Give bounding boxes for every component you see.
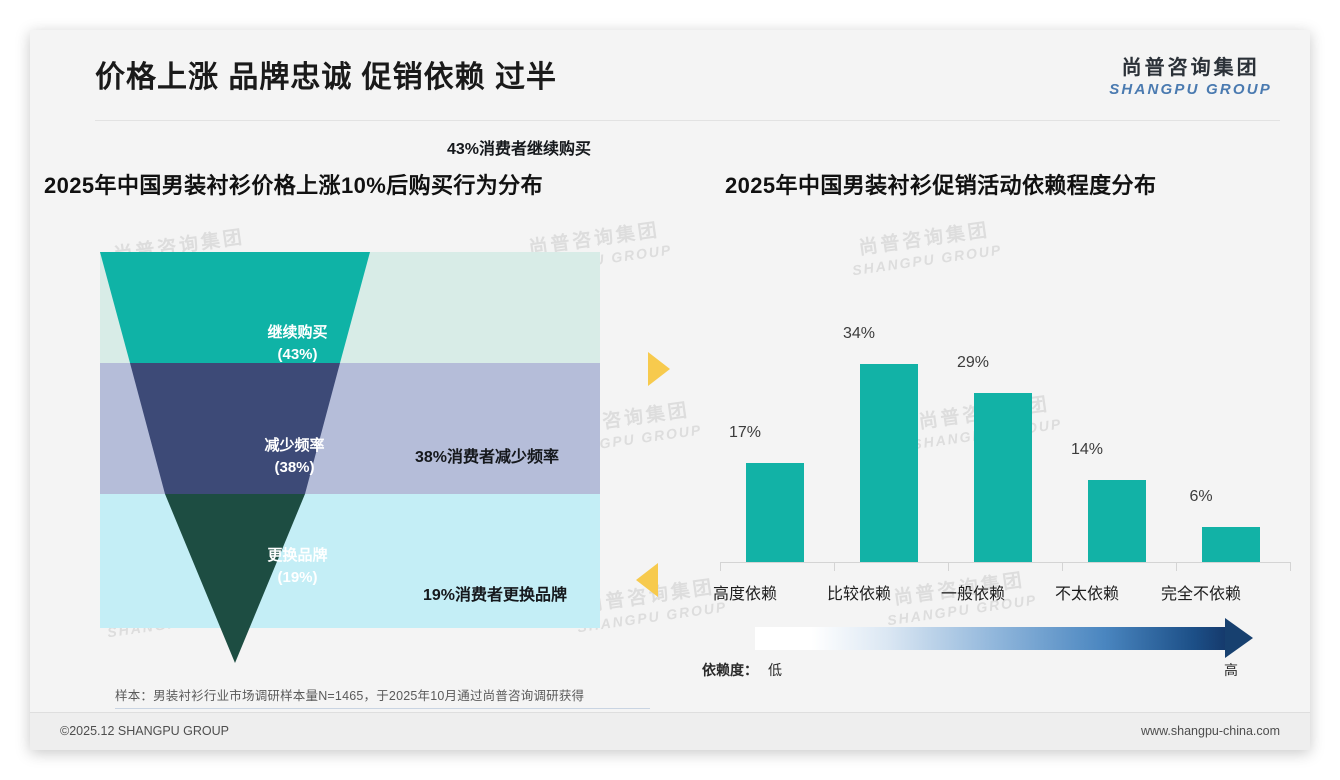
gradient-arrow-shaft bbox=[755, 627, 1227, 650]
left-chart-title: 2025年中国男装衬衫价格上涨10%后购买行为分布 bbox=[44, 168, 543, 200]
funnel-segment-label-1: 继续购买 (43%) bbox=[230, 322, 365, 366]
bar-0[interactable] bbox=[746, 463, 804, 562]
bar-chart-plot-area bbox=[720, 260, 1290, 562]
x-axis-label-0: 高度依赖 bbox=[685, 580, 805, 604]
x-axis-label-2: 一般依赖 bbox=[913, 580, 1033, 604]
bar-value-1: 34% bbox=[819, 325, 899, 343]
x-axis-line bbox=[720, 562, 1290, 563]
play-left-triangle-icon bbox=[636, 563, 658, 597]
sample-note: 样本：男装衬衫行业市场调研样本量N=1465，于2025年10月通过尚普咨询调研… bbox=[115, 685, 584, 704]
copyright-text: ©2025.12 SHANGPU GROUP bbox=[60, 724, 229, 738]
x-axis-tick bbox=[834, 562, 835, 571]
funnel-annotation-1: 43%消费者继续购买 bbox=[447, 135, 591, 159]
brand-logo: 尚普咨询集团 SHANGPU GROUP bbox=[1109, 58, 1272, 97]
x-axis-label-1: 比较依赖 bbox=[799, 580, 919, 604]
bar-value-4: 6% bbox=[1161, 488, 1241, 506]
funnel-segment-label-3: 更换品牌 (19%) bbox=[235, 545, 360, 589]
slide-header: 价格上涨 品牌忠诚 促销依赖 过半 尚普咨询集团 SHANGPU GROUP bbox=[30, 30, 1310, 120]
funnel-segment-name-3: 更换品牌 bbox=[235, 545, 360, 567]
website-url[interactable]: www.shangpu-china.com bbox=[1141, 724, 1280, 738]
x-axis-tick bbox=[1062, 562, 1063, 571]
x-axis-tick bbox=[948, 562, 949, 571]
legend-high-label: 高 bbox=[1224, 660, 1238, 680]
slide-footer: ©2025.12 SHANGPU GROUP www.shangpu-china… bbox=[30, 713, 1310, 750]
x-axis-label-3: 不太依赖 bbox=[1027, 580, 1147, 604]
bar-value-3: 14% bbox=[1047, 441, 1127, 459]
x-axis-tick bbox=[1176, 562, 1177, 571]
legend-low-label: 低 bbox=[768, 660, 782, 680]
bar-value-0: 17% bbox=[705, 424, 785, 442]
play-right-triangle-icon bbox=[648, 352, 670, 386]
x-axis-label-4: 完全不依赖 bbox=[1141, 580, 1261, 604]
bar-2[interactable] bbox=[974, 393, 1032, 562]
funnel-annotation-3: 19%消费者更换品牌 bbox=[423, 581, 567, 605]
funnel-segment-value-1: (43%) bbox=[230, 344, 365, 366]
page-title: 价格上涨 品牌忠诚 促销依赖 过半 bbox=[95, 52, 557, 96]
x-axis-tick bbox=[720, 562, 721, 571]
gradient-arrow-head-icon bbox=[1225, 618, 1253, 658]
brand-logo-cn: 尚普咨询集团 bbox=[1109, 58, 1272, 78]
funnel-segment-label-2: 减少频率 (38%) bbox=[227, 435, 362, 479]
funnel-segment-value-2: (38%) bbox=[227, 457, 362, 479]
bar-1[interactable] bbox=[860, 364, 918, 562]
brand-logo-en: SHANGPU GROUP bbox=[1109, 82, 1272, 97]
sample-note-divider bbox=[115, 708, 650, 709]
funnel-segment-name-2: 减少频率 bbox=[227, 435, 362, 457]
legend-caption: 依赖度： bbox=[702, 660, 758, 680]
header-divider bbox=[95, 120, 1280, 121]
funnel-annotation-2: 38%消费者减少频率 bbox=[415, 443, 559, 467]
bar-3[interactable] bbox=[1088, 480, 1146, 562]
funnel-segment-name-1: 继续购买 bbox=[230, 322, 365, 344]
slide-canvas: 价格上涨 品牌忠诚 促销依赖 过半 尚普咨询集团 SHANGPU GROUP 2… bbox=[0, 0, 1340, 780]
funnel-segment-value-3: (19%) bbox=[235, 567, 360, 589]
bar-4[interactable] bbox=[1202, 527, 1260, 562]
dependency-gradient-legend: 依赖度： 低 高 bbox=[690, 618, 1310, 688]
x-axis-tick bbox=[1290, 562, 1291, 571]
bar-value-2: 29% bbox=[933, 354, 1013, 372]
slide-card: 价格上涨 品牌忠诚 促销依赖 过半 尚普咨询集团 SHANGPU GROUP 2… bbox=[30, 30, 1310, 750]
right-chart-title: 2025年中国男装衬衫促销活动依赖程度分布 bbox=[725, 168, 1156, 200]
